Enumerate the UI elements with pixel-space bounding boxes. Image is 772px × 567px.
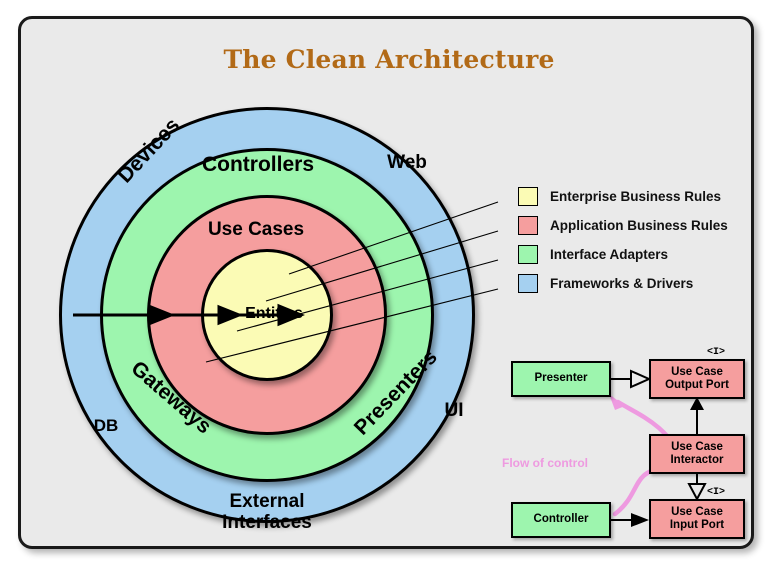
- legend-item-frameworks-and-drivers: Frameworks & Drivers: [518, 269, 758, 298]
- legend-label-application-business-rules: Application Business Rules: [550, 218, 728, 233]
- uml-box-use-case-output-port[interactable]: Use Case Output Port: [649, 359, 745, 399]
- uml-box-controller[interactable]: Controller: [511, 502, 611, 538]
- legend-item-interface-adapters: Interface Adapters: [518, 240, 758, 269]
- legend-label-interface-adapters: Interface Adapters: [550, 247, 668, 262]
- legend-item-enterprise-business-rules: Enterprise Business Rules: [518, 182, 758, 211]
- clean-architecture-rings: Controllers Use Cases Entities Web UI DB…: [43, 91, 491, 539]
- uml-box-use-case-interactor[interactable]: Use Case Interactor: [649, 434, 745, 474]
- ring-label-controllers: Controllers: [163, 153, 353, 177]
- legend: Enterprise Business Rules Application Bu…: [518, 182, 758, 298]
- interface-marker-input-port: <I>: [707, 488, 725, 498]
- ring-label-web: Web: [372, 152, 442, 173]
- legend-swatch-interface-adapters: [518, 245, 538, 264]
- uml-flow-diagram: Output Port (solid arrow, up) --> Input …: [491, 344, 757, 549]
- legend-swatch-application-business-rules: [518, 216, 538, 235]
- ring-label-db: DB: [81, 416, 131, 435]
- ring-label-external-interfaces: External Interfaces: [187, 491, 347, 534]
- uml-box-use-case-input-port[interactable]: Use Case Input Port: [649, 499, 745, 539]
- ring-label-entities: Entities: [219, 305, 329, 323]
- legend-swatch-frameworks-and-drivers: [518, 274, 538, 293]
- legend-item-application-business-rules: Application Business Rules: [518, 211, 758, 240]
- interface-marker-output-port: <I>: [707, 348, 725, 358]
- ring-label-use-cases: Use Cases: [171, 219, 341, 240]
- page-title: The Clean Architecture: [21, 45, 757, 74]
- flow-of-control-label: Flow of control: [502, 456, 588, 470]
- diagram-canvas: The Clean Architecture Controllers: [0, 0, 772, 567]
- legend-label-enterprise-business-rules: Enterprise Business Rules: [550, 189, 721, 204]
- ring-label-ui: UI: [429, 400, 479, 421]
- legend-swatch-enterprise-business-rules: [518, 187, 538, 206]
- diagram-panel: The Clean Architecture Controllers: [18, 16, 754, 549]
- legend-label-frameworks-and-drivers: Frameworks & Drivers: [550, 276, 693, 291]
- uml-box-presenter[interactable]: Presenter: [511, 361, 611, 397]
